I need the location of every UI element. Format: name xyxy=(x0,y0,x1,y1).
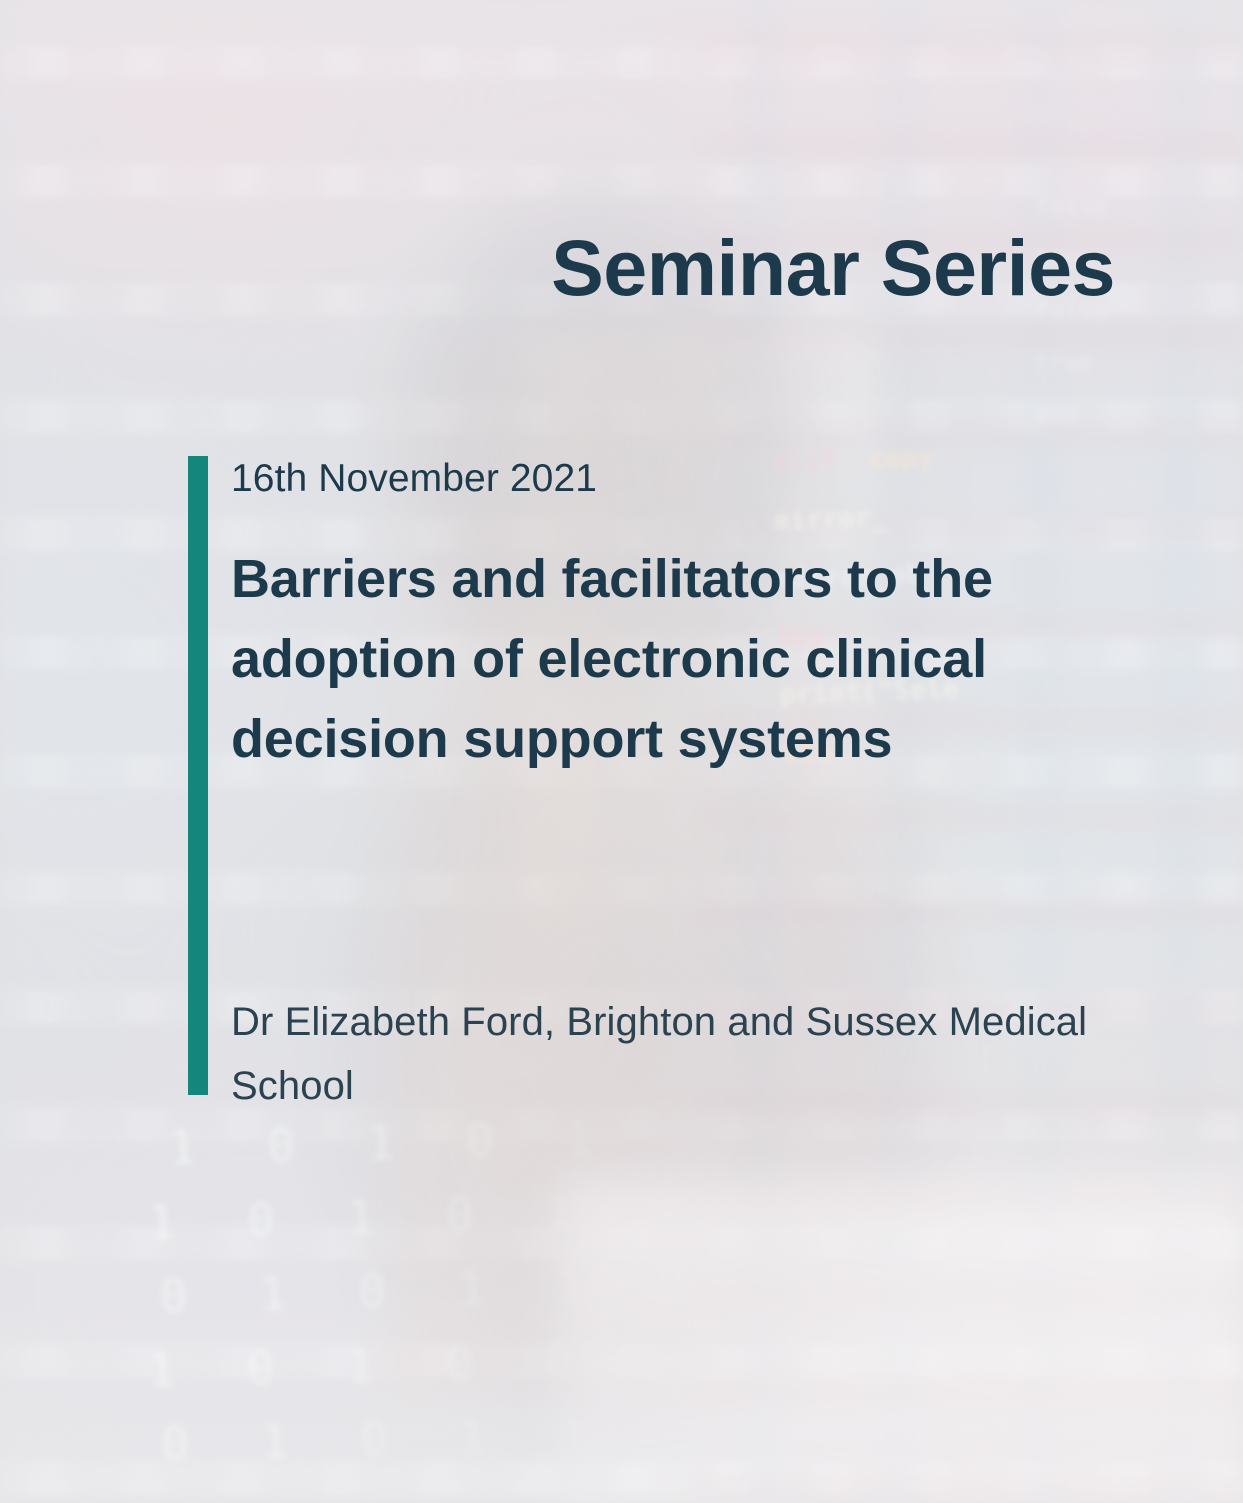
seminar-promo-card: elif copy mirror_ mirror_ob bpy. print("… xyxy=(0,0,1243,1503)
card-content: Seminar Series 16th November 2021 Barrie… xyxy=(0,0,1243,1503)
talk-date: 16th November 2021 xyxy=(231,459,1031,498)
talk-title: Barriers and facilitators to the adoptio… xyxy=(231,540,1031,780)
talk-details: 16th November 2021 Barriers and facilita… xyxy=(231,459,1031,780)
series-title: Seminar Series xyxy=(0,228,1115,307)
teal-accent-bar xyxy=(188,456,208,1095)
speaker-name-and-affiliation: Dr Elizabeth Ford, Brighton and Sussex M… xyxy=(231,990,1111,1118)
